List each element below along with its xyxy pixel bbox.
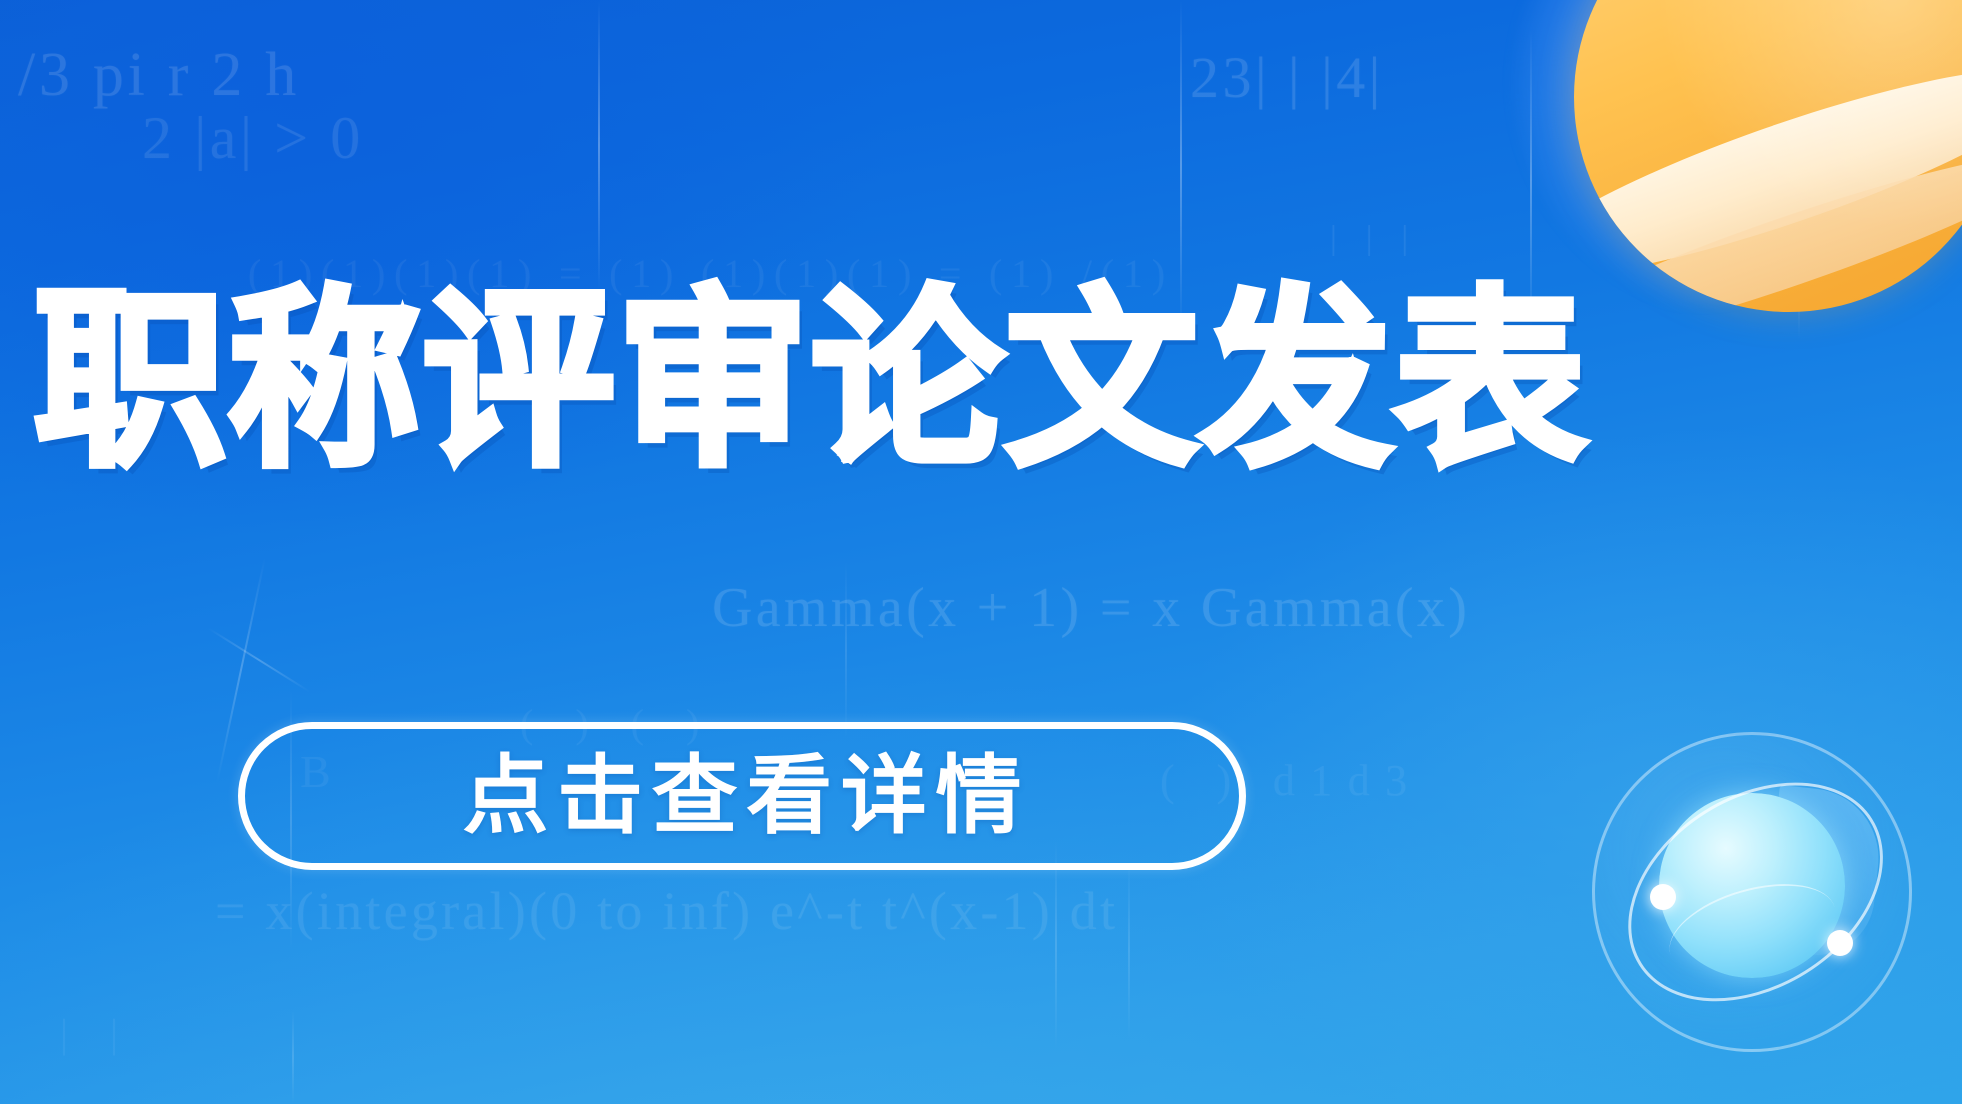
background-formula: = x(integral)(0 to inf) e^-t t^(x-1) dt <box>215 880 1118 942</box>
background-hairline <box>292 1010 294 1104</box>
background-formula: 23| | |4| <box>1190 44 1384 111</box>
electron-dot-icon <box>1650 884 1676 910</box>
atom-icon <box>1592 732 1912 1052</box>
planet-icon <box>1574 0 1962 312</box>
background-formula: | | <box>60 1010 134 1057</box>
background-hairline <box>1055 840 1057 1050</box>
promo-banner: /3 pi r 2 h 2 |a| > 0 23| | |4| (1)(1)(1… <box>0 0 1962 1104</box>
background-diagonal-line <box>208 627 311 692</box>
background-formula: /3 pi r 2 h <box>18 40 300 111</box>
background-formula: | | | <box>1330 220 1418 258</box>
background-hairline <box>1128 860 1130 1040</box>
planet-body-icon <box>1574 0 1962 312</box>
view-details-button-label: 点击查看详情 <box>454 753 1030 839</box>
background-hairline <box>845 560 847 740</box>
background-hairline <box>598 0 600 290</box>
electron-dot-icon <box>1827 930 1853 956</box>
background-formula: Gamma(x + 1) = x Gamma(x) <box>712 576 1470 640</box>
banner-headline: 职称评审论文发表 <box>34 286 1588 478</box>
background-formula: 2 |a| > 0 <box>142 104 364 173</box>
view-details-button[interactable]: 点击查看详情 <box>238 722 1246 870</box>
